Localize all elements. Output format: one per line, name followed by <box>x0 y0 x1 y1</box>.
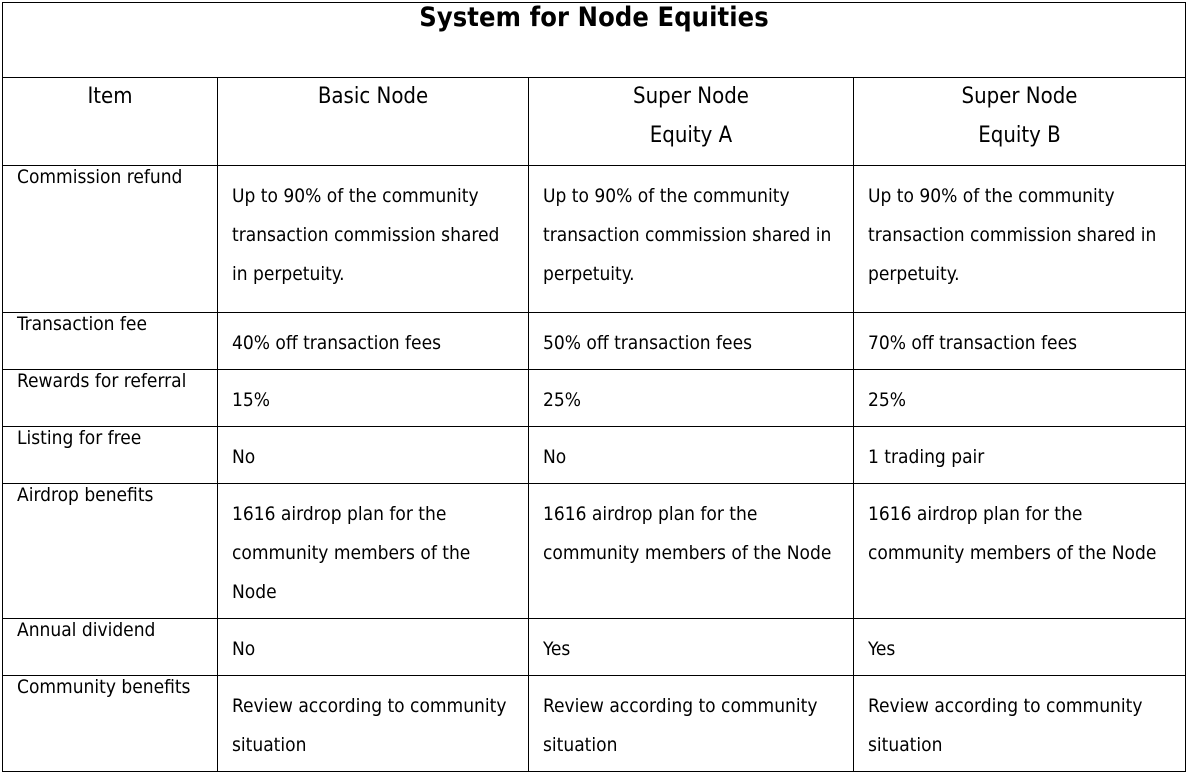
table-row: Listing for free No No 1 trading pair <box>3 427 1186 484</box>
table-row: Commission refund Up to 90% of the commu… <box>3 166 1186 313</box>
cell-commission-refund-basic-node: Up to 90% of the community transaction c… <box>218 166 529 313</box>
column-header-item-line1: Item <box>3 78 217 117</box>
cell-listing-for-free-equity-a: No <box>529 427 854 484</box>
cell-listing-for-free-basic-node: No <box>218 427 529 484</box>
cell-airdrop-benefits-basic-node: 1616 airdrop plan for the community memb… <box>218 484 529 619</box>
column-header-item: Item <box>3 78 218 166</box>
table-row: Annual dividend No Yes Yes <box>3 619 1186 676</box>
table-row: Transaction fee 40% off transaction fees… <box>3 313 1186 370</box>
node-equities-table: System for Node Equities Item Basic Node <box>2 2 1186 772</box>
column-header-super-node-equity-a: Super Node Equity A <box>529 78 854 166</box>
table-row: Airdrop benefits 1616 airdrop plan for t… <box>3 484 1186 619</box>
cell-transaction-fee-basic-node: 40% off transaction fees <box>218 313 529 370</box>
cell-community-benefits-equity-b: Review according to community situation <box>854 676 1186 772</box>
table-title-row: System for Node Equities <box>3 3 1186 78</box>
column-header-super-node-equity-b: Super Node Equity B <box>854 78 1186 166</box>
row-label-annual-dividend: Annual dividend <box>3 619 218 676</box>
cell-community-benefits-equity-a: Review according to community situation <box>529 676 854 772</box>
row-label-listing-for-free: Listing for free <box>3 427 218 484</box>
row-label-community-benefits: Community benefits <box>3 676 218 772</box>
cell-listing-for-free-equity-b: 1 trading pair <box>854 427 1186 484</box>
cell-rewards-for-referral-equity-b: 25% <box>854 370 1186 427</box>
equities-table-container: System for Node Equities Item Basic Node <box>2 2 1185 772</box>
table-row: Community benefits Review according to c… <box>3 676 1186 772</box>
row-label-commission-refund: Commission refund <box>3 166 218 313</box>
column-header-basic-node: Basic Node <box>218 78 529 166</box>
cell-annual-dividend-basic-node: No <box>218 619 529 676</box>
column-header-basic-node-line1: Basic Node <box>218 78 528 117</box>
cell-airdrop-benefits-equity-b: 1616 airdrop plan for the community memb… <box>854 484 1186 619</box>
cell-commission-refund-equity-b: Up to 90% of the community transaction c… <box>854 166 1186 313</box>
table-title-cell: System for Node Equities <box>3 3 1186 78</box>
cell-transaction-fee-equity-b: 70% off transaction fees <box>854 313 1186 370</box>
column-header-super-node-equity-b-line1: Super Node <box>854 78 1185 117</box>
cell-commission-refund-equity-a: Up to 90% of the community transaction c… <box>529 166 854 313</box>
column-header-super-node-equity-a-line1: Super Node <box>529 78 853 117</box>
cell-transaction-fee-equity-a: 50% off transaction fees <box>529 313 854 370</box>
page-title: System for Node Equities <box>3 3 1185 33</box>
row-label-transaction-fee: Transaction fee <box>3 313 218 370</box>
cell-community-benefits-basic-node: Review according to community situation <box>218 676 529 772</box>
cell-rewards-for-referral-equity-a: 25% <box>529 370 854 427</box>
row-label-rewards-for-referral: Rewards for referral <box>3 370 218 427</box>
column-header-super-node-equity-b-line2: Equity B <box>854 117 1185 156</box>
cell-annual-dividend-equity-a: Yes <box>529 619 854 676</box>
column-header-super-node-equity-a-line2: Equity A <box>529 117 853 156</box>
table-row: Rewards for referral 15% 25% 25% <box>3 370 1186 427</box>
cell-annual-dividend-equity-b: Yes <box>854 619 1186 676</box>
table-header-row: Item Basic Node Super Node Equity A <box>3 78 1186 166</box>
row-label-airdrop-benefits: Airdrop benefits <box>3 484 218 619</box>
cell-rewards-for-referral-basic-node: 15% <box>218 370 529 427</box>
cell-airdrop-benefits-equity-a: 1616 airdrop plan for the community memb… <box>529 484 854 619</box>
